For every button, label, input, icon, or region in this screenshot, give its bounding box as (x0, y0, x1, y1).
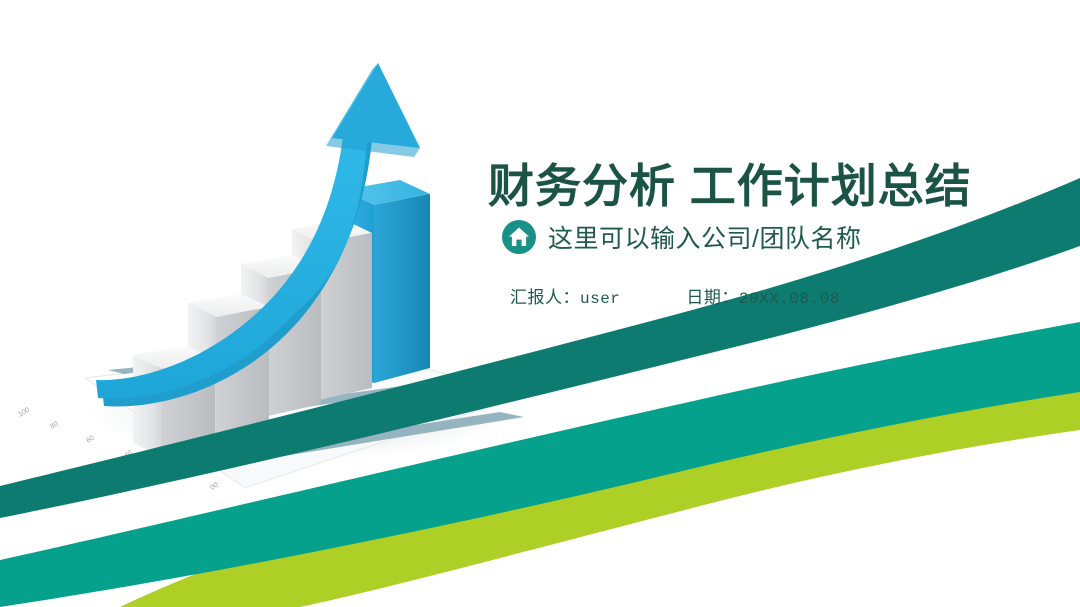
svg-text:40: 40 (123, 450, 133, 460)
date-value: 20XX.08.08 (739, 290, 840, 308)
svg-text:20: 20 (165, 466, 175, 476)
svg-text:00: 00 (209, 482, 219, 492)
cover-text-block: 财务分析 工作计划总结 这里可以输入公司/团队名称 汇报人： user 日期： … (488, 160, 1058, 308)
reporter-value: user (580, 290, 620, 308)
growth-chart-illustration: 100 80 60 40 20 00 (0, 18, 540, 498)
svg-text:100: 100 (17, 407, 31, 419)
subtitle-row: 这里可以输入公司/团队名称 (502, 219, 1058, 255)
presenter-meta-row: 汇报人： user 日期： 20XX.08.08 (510, 283, 1058, 308)
page-title: 财务分析 工作计划总结 (488, 160, 1058, 213)
svg-text:80: 80 (49, 421, 59, 431)
svg-text:60: 60 (85, 435, 95, 445)
reporter-label: 汇报人： (510, 283, 580, 308)
home-icon (502, 220, 536, 254)
subtitle: 这里可以输入公司/团队名称 (548, 219, 861, 255)
cover-slide: 100 80 60 40 20 00 (0, 0, 1080, 607)
date-label: 日期： (686, 283, 739, 308)
